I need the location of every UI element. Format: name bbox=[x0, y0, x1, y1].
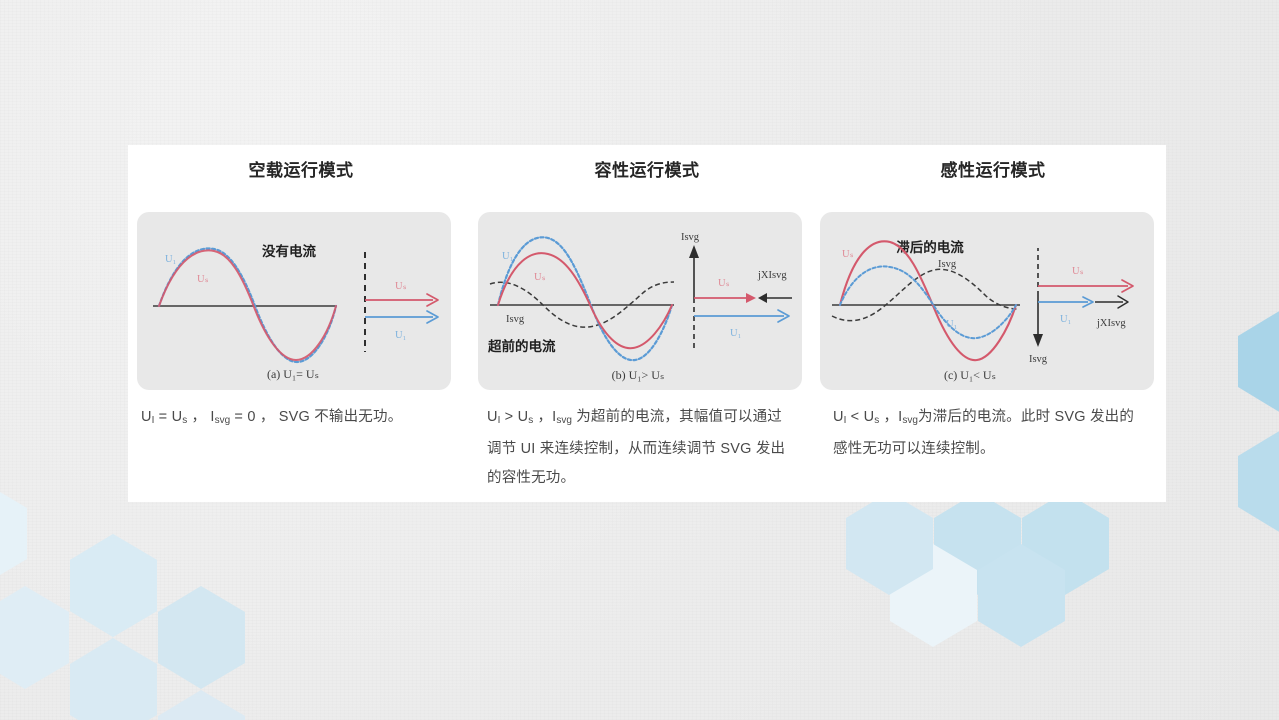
wave-label-isvg: Isvg bbox=[506, 314, 525, 325]
wave-label-us: Uₛ bbox=[534, 272, 546, 283]
figure-no-load: 没有电流 U₁ Uₛ bbox=[137, 212, 451, 390]
phasor-label-jisvg: jXIsvg bbox=[1096, 318, 1126, 329]
phasor-label-ui: U₁ bbox=[730, 328, 741, 339]
caption-inductive: UI < Us ，Isvg为滞后的电流。此时 SVG 发出的感性无功可以连续控制… bbox=[833, 403, 1142, 464]
caption-subscript: svg bbox=[215, 415, 231, 426]
phasor-us-arrowhead bbox=[746, 293, 756, 303]
panel-capacitive: 容性运行模式 U₁ Uₛ Isvg 超前的电流 bbox=[474, 145, 820, 502]
wave-us-inductive bbox=[840, 241, 1016, 360]
caption-text: ，I bbox=[879, 409, 902, 425]
caption-text: U bbox=[141, 409, 152, 425]
figure-capacitive: U₁ Uₛ Isvg 超前的电流 Isvg Uₛ bbox=[478, 212, 802, 390]
wave-label-us: Uₛ bbox=[197, 274, 209, 285]
caption-text: = 0 ， SVG 不输出无功。 bbox=[230, 409, 402, 425]
caption-text: > U bbox=[500, 409, 528, 425]
figure-note-capacitive: 超前的电流 bbox=[487, 338, 556, 354]
phasor-axis-label: Isvg bbox=[681, 232, 700, 243]
caption-text: U bbox=[833, 409, 844, 425]
wave-ui-no-load bbox=[159, 248, 336, 362]
caption-text: ，I bbox=[533, 409, 556, 425]
panel-title-inductive: 感性运行模式 bbox=[820, 159, 1166, 183]
wave-label-us: Uₛ bbox=[842, 249, 854, 260]
panel-no-load: 空载运行模式 没有电流 U₁ Uₛ bbox=[128, 145, 474, 502]
caption-text: < U bbox=[846, 409, 874, 425]
figure-inductive: 滞后的电流 Uₛ U₁ Isvg bbox=[820, 212, 1154, 390]
wave-label-ui: U₁ bbox=[165, 254, 176, 265]
caption-subscript: svg bbox=[902, 415, 918, 426]
phasor-isvg-arrowhead bbox=[1033, 334, 1043, 347]
caption-text: ， I bbox=[187, 409, 214, 425]
figure-sublabel-inductive: (c) U₁< Uₛ bbox=[944, 368, 996, 382]
phasor-label-ui: U₁ bbox=[395, 330, 406, 341]
phasor-jisvg-arrowhead bbox=[758, 293, 767, 303]
slide-canvas: 空载运行模式 没有电流 U₁ Uₛ bbox=[0, 0, 1279, 720]
caption-text: U bbox=[487, 409, 498, 425]
content-card: 空载运行模式 没有电流 U₁ Uₛ bbox=[128, 145, 1166, 502]
panel-title-no-load: 空载运行模式 bbox=[128, 159, 474, 183]
figure-note-no-load: 没有电流 bbox=[262, 243, 316, 259]
figure-sublabel-capacitive: (b) U₁> Uₛ bbox=[612, 368, 665, 382]
wave-label-ui: U₁ bbox=[946, 319, 957, 330]
caption-text: = U bbox=[154, 409, 182, 425]
wave-ui-inductive bbox=[840, 266, 1016, 338]
phasor-label-jisvg: jXIsvg bbox=[757, 270, 787, 281]
phasor-label-ui: U₁ bbox=[1060, 314, 1071, 325]
panel-title-capacitive: 容性运行模式 bbox=[474, 159, 820, 183]
phasor-label-us: Uₛ bbox=[718, 278, 730, 289]
wave-us-capacitive bbox=[498, 253, 672, 348]
phasor-label-us: Uₛ bbox=[1072, 266, 1084, 277]
wave-label-isvg: Isvg bbox=[938, 259, 957, 270]
phasor-label-isvg: Isvg bbox=[1029, 354, 1048, 365]
wave-label-ui: U₁ bbox=[502, 251, 513, 262]
caption-capacitive: UI > Us ，Isvg 为超前的电流，其幅值可以通过调节 UI 来连续控制，… bbox=[487, 403, 796, 493]
figure-sublabel-no-load: (a) U₁= Uₛ bbox=[267, 367, 319, 381]
phasor-axis-arrowhead bbox=[689, 245, 699, 258]
caption-subscript: svg bbox=[556, 415, 572, 426]
panel-inductive: 感性运行模式 滞后的电流 Uₛ U₁ Isvg bbox=[820, 145, 1166, 502]
wave-us-no-load bbox=[159, 250, 336, 360]
phasor-label-us: Uₛ bbox=[395, 281, 407, 292]
caption-no-load: UI = Us ， Isvg = 0 ， SVG 不输出无功。 bbox=[141, 403, 450, 435]
